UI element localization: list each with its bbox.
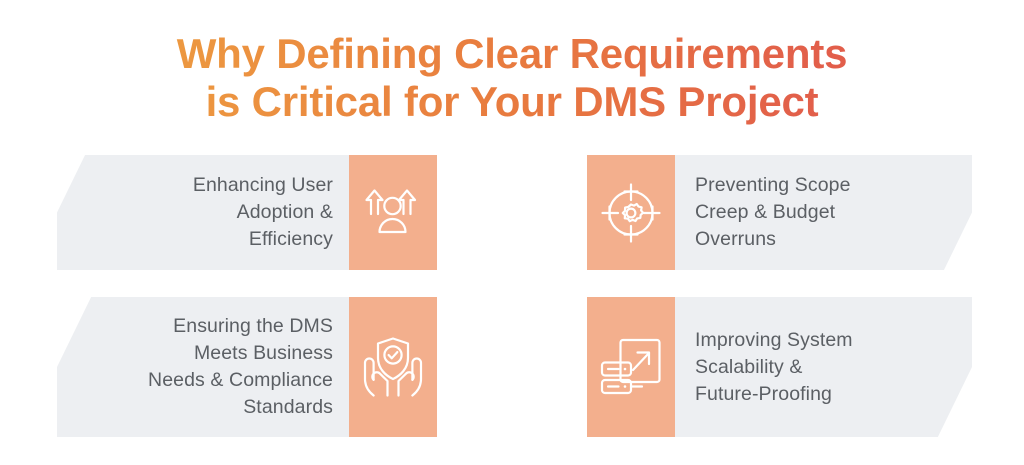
card-text-line: Overruns — [695, 226, 932, 253]
card-text-line: Creep & Budget — [695, 199, 932, 226]
card-text-line: Future-Proofing — [695, 381, 932, 408]
card-text-line: Enhancing User — [97, 172, 333, 199]
card-label-enhancing-user-adoption: Enhancing User Adoption & Efficiency — [57, 155, 349, 270]
target-crosshair-gear-icon — [600, 182, 662, 244]
card-text-line: Standards — [87, 394, 333, 421]
card-text-line: Adoption & — [97, 199, 333, 226]
page-title: Why Defining Clear Requirements is Criti… — [0, 30, 1024, 126]
card-preventing-scope-creep[interactable]: Preventing Scope Creep & Budget Overruns — [587, 155, 972, 270]
card-text-line: Needs & Compliance — [87, 367, 333, 394]
icon-panel-improving-scalability — [587, 297, 675, 437]
card-label-improving-scalability: Improving System Scalability & Future-Pr… — [675, 297, 972, 437]
card-improving-scalability[interactable]: Improving System Scalability & Future-Pr… — [587, 297, 972, 437]
card-label-ensuring-dms-compliance: Ensuring the DMS Meets Business Needs & … — [57, 297, 349, 437]
card-text-line: Preventing Scope — [695, 172, 932, 199]
page-title-line-1: Why Defining Clear Requirements — [0, 30, 1024, 78]
icon-panel-ensuring-dms-compliance — [349, 297, 437, 437]
shield-check-hands-icon — [361, 336, 425, 398]
card-label-preventing-scope-creep: Preventing Scope Creep & Budget Overruns — [675, 155, 972, 270]
server-stack-growth-arrow-icon — [599, 337, 663, 397]
card-text-line: Ensuring the DMS — [87, 313, 333, 340]
card-text-line: Improving System — [695, 327, 932, 354]
benefits-grid: Enhancing User Adoption & Efficiency — [0, 155, 1024, 445]
page-title-line-2: is Critical for Your DMS Project — [0, 78, 1024, 126]
people-growth-arrows-icon — [362, 184, 424, 242]
icon-panel-preventing-scope-creep — [587, 155, 675, 270]
icon-panel-enhancing-user-adoption — [349, 155, 437, 270]
card-ensuring-dms-compliance[interactable]: Ensuring the DMS Meets Business Needs & … — [57, 297, 437, 437]
card-text-line: Meets Business — [87, 340, 333, 367]
card-enhancing-user-adoption[interactable]: Enhancing User Adoption & Efficiency — [57, 155, 437, 270]
card-text-line: Scalability & — [695, 354, 932, 381]
card-text-line: Efficiency — [97, 226, 333, 253]
